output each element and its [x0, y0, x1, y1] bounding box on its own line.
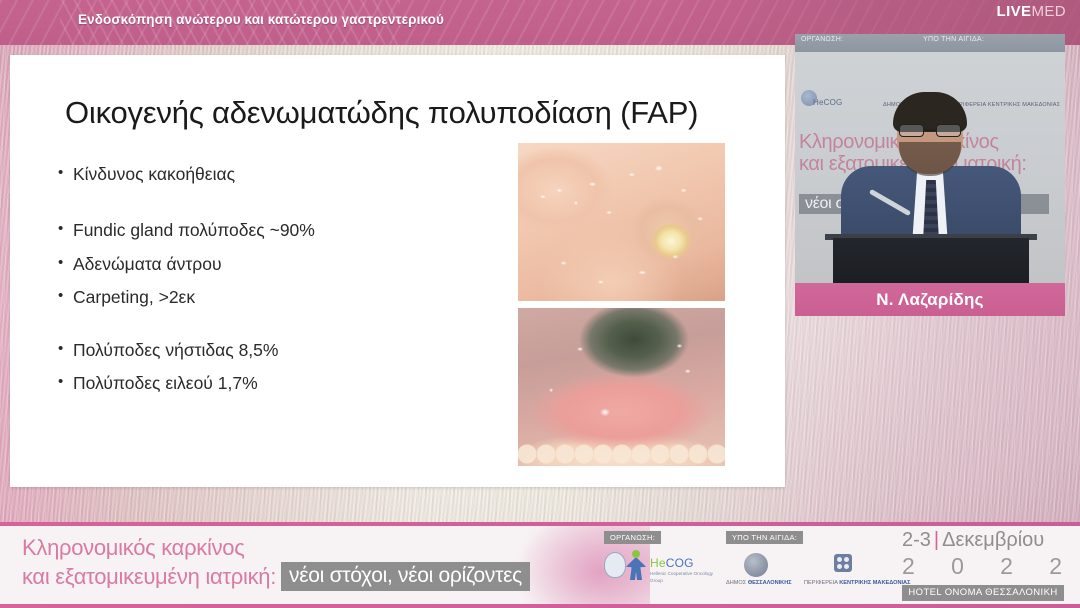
list-item: • Carpeting, >2εκ [58, 286, 488, 308]
list-item-label: Πολύποδες ειλεού 1,7% [73, 372, 258, 394]
endoscopy-image-duodenal-polyp [518, 308, 725, 466]
footer-aegis-label: ΥΠΟ ΤΗΝ ΑΙΓΙΔΑ: [726, 531, 803, 544]
endoscopy-speculars-bottom [518, 308, 725, 466]
footer-organiser-label: ΟΡΓΑΝΩΣΗ: [604, 531, 661, 544]
podium [833, 238, 1029, 283]
list-item-label: Αδενώματα άντρου [73, 253, 222, 275]
thessaloniki-name: ΘΕΣΣΑΛΟΝΙΚΗΣ [748, 580, 792, 586]
bullet-gap [58, 309, 488, 339]
region-label: ΠΕΡΙΦΕΡΕΙΑ ΚΕΝΤΡΙΚΗΣ ΜΑΚΕΔΟΝΙΑΣ [804, 580, 910, 586]
hecog-person-head [632, 550, 640, 558]
event-date-month: Δεκεμβρίου [942, 529, 1044, 551]
thessaloniki-prefix: ΔΗΜΟΣ [726, 580, 748, 586]
speaker-glasses-icon [899, 124, 961, 137]
glasses-bridge [924, 129, 936, 131]
bullet-dot-icon: • [58, 163, 73, 183]
glasses-right-lens [936, 124, 961, 137]
slide-bullet-list: • Κίνδυνος κακοήθειας • Fundic gland πολ… [58, 163, 488, 394]
session-title: Ενδοσκόπηση ανώτερου και κατώτερου γαστρ… [78, 12, 444, 27]
hecog-wordmark: HeCOG [650, 556, 694, 570]
hecog-cog-text: COG [666, 556, 694, 570]
region-prefix: ΠΕΡΙΦΕΡΕΙΑ [804, 580, 839, 586]
thessaloniki-logo: ΔΗΜΟΣ ΘΕΣΣΑΛΟΝΙΚΗΣ [726, 553, 796, 597]
event-title-line2-row: και εξατομικευμένη ιατρική: νέοι στόχοι,… [22, 562, 530, 591]
speaker-name-banner: Ν. Λαζαρίδης [795, 283, 1065, 316]
list-item-label: Πολύποδες νήστιδας 8,5% [73, 339, 278, 361]
thessaloniki-label: ΔΗΜΟΣ ΘΕΣΣΑΛΟΝΙΚΗΣ [726, 580, 792, 586]
year-digit: 2 [902, 553, 915, 580]
bullet-gap [58, 361, 488, 372]
livemed-logo: LIVEMED [997, 3, 1067, 20]
hecog-he-text: He [650, 556, 666, 570]
bullet-gap [58, 185, 488, 219]
list-item: • Πολύποδες ειλεού 1,7% [58, 372, 488, 394]
speaker-video-feed[interactable]: ΟΡΓΑΝΩΣΗ: ΥΠΟ ΤΗΝ ΑΙΓΙΔΑ: HeCOG ΔΗΜΟΣ ΘΕ… [795, 34, 1065, 283]
list-item: • Αδενώματα άντρου [58, 253, 488, 275]
hecog-subtitle: Hellenic Cooperative Oncology Group [650, 571, 724, 584]
list-item-label: Κίνδυνος κακοήθειας [73, 163, 235, 185]
bullet-dot-icon: • [58, 339, 73, 359]
hecog-person-body [626, 558, 646, 580]
region-logo: ΠΕΡΙΦΕΡΕΙΑ ΚΕΝΤΡΙΚΗΣ ΜΑΚΕΔΟΝΙΑΣ [804, 553, 890, 597]
footer-sponsor-block: ΟΡΓΑΝΩΣΗ: ΥΠΟ ΤΗΝ ΑΙΓΙΔΑ: HeCOG Hellenic… [598, 531, 890, 603]
list-item: • Πολύποδες νήστιδας 8,5% [58, 339, 488, 361]
glasses-left-lens [899, 124, 924, 137]
presentation-slide[interactable]: Οικογενής αδενωματώδης πολυποδίαση (FAP)… [10, 55, 785, 487]
bullet-dot-icon: • [58, 372, 73, 392]
hecog-person-icon [624, 550, 648, 582]
backdrop-organiser-label: ΟΡΓΑΝΩΣΗ: [801, 36, 843, 43]
hecog-logo: HeCOG Hellenic Cooperative Oncology Grou… [604, 550, 724, 598]
year-digit: 2 [1000, 553, 1013, 580]
region-emblem-icon [834, 554, 852, 572]
event-title-highlight: νέοι στόχοι, νέοι ορίζοντες [281, 562, 530, 591]
year-digit: 0 [951, 553, 964, 580]
livemed-med-text: MED [1031, 3, 1066, 20]
event-date-line: 2-3|Δεκεμβρίου [902, 529, 1044, 552]
event-title: Κληρονομικός καρκίνος και εξατομικευμένη… [22, 534, 530, 591]
event-date-block: 2-3|Δεκεμβρίου 2 0 2 2 HOTEL ONOMA ΘΕΣΣΑ… [898, 529, 1066, 603]
endoscopy-speculars-top [518, 143, 725, 301]
list-item-label: Fundic gland πολύποδες ~90% [73, 219, 315, 241]
bullet-dot-icon: • [58, 219, 73, 239]
slide-title: Οικογενής αδενωματώδης πολυποδίαση (FAP) [65, 95, 698, 131]
event-year: 2 0 2 2 [902, 553, 1062, 580]
event-title-line1: Κληρονομικός καρκίνος [22, 534, 530, 562]
event-date-separator: | [934, 529, 939, 551]
year-digit: 2 [1049, 553, 1062, 580]
event-footer-bar: Κληρονομικός καρκίνος και εξατομικευμένη… [0, 522, 1080, 608]
thessaloniki-emblem-icon [744, 553, 768, 577]
bullet-dot-icon: • [58, 286, 73, 306]
event-date-days: 2-3 [902, 529, 931, 551]
list-item: • Κίνδυνος κακοήθειας [58, 163, 488, 185]
bullet-dot-icon: • [58, 253, 73, 273]
bullet-gap [58, 275, 488, 286]
livemed-live-text: LIVE [997, 3, 1032, 20]
footer-bottom-rule [0, 604, 1080, 608]
hecog-mask-icon [604, 552, 626, 578]
event-venue: HOTEL ONOMA ΘΕΣΣΑΛΟΝΙΚΗ [902, 585, 1064, 601]
list-item-label: Carpeting, >2εκ [73, 286, 195, 308]
list-item: • Fundic gland πολύποδες ~90% [58, 219, 488, 241]
endoscopy-image-gastric-polyp [518, 143, 725, 301]
bullet-gap [58, 242, 488, 253]
event-title-line2: και εξατομικευμένη ιατρική: [22, 563, 276, 591]
backdrop-aegis-label: ΥΠΟ ΤΗΝ ΑΙΓΙΔΑ: [923, 36, 984, 43]
backdrop-hecog-label: HeCOG [813, 98, 842, 107]
backdrop-top-band: ΟΡΓΑΝΩΣΗ: ΥΠΟ ΤΗΝ ΑΙΓΙΔΑ: [795, 34, 1065, 52]
